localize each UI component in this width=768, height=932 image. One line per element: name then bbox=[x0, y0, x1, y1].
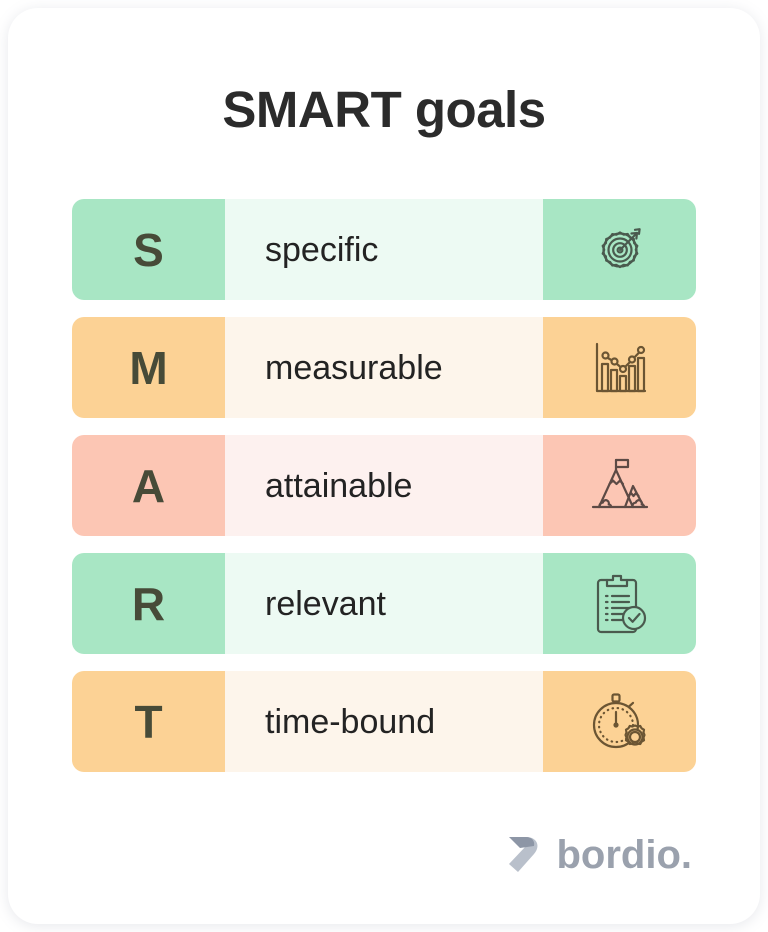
target-gear-arrow-icon bbox=[587, 217, 653, 283]
icon-cell-specific bbox=[543, 199, 696, 300]
label-attainable: attainable bbox=[265, 469, 412, 503]
smart-row-r: R relevant bbox=[72, 553, 696, 654]
label-cell-relevant: relevant bbox=[225, 553, 543, 654]
label-relevant: relevant bbox=[265, 587, 386, 621]
icon-cell-measurable bbox=[543, 317, 696, 418]
icon-cell-attainable bbox=[543, 435, 696, 536]
bordio-chevron-logo-icon bbox=[506, 834, 542, 876]
letter-cell-s: S bbox=[72, 199, 225, 300]
smart-row-s: S specific bbox=[72, 199, 696, 300]
page-title: SMART goals bbox=[8, 80, 760, 139]
label-cell-attainable: attainable bbox=[225, 435, 543, 536]
smart-row-t: T time-bound bbox=[72, 671, 696, 772]
label-time-bound: time-bound bbox=[265, 705, 435, 739]
smart-rows-list: S specific bbox=[72, 199, 696, 789]
label-specific: specific bbox=[265, 233, 378, 267]
letter-r: R bbox=[132, 581, 165, 627]
letter-cell-r: R bbox=[72, 553, 225, 654]
letter-t: T bbox=[134, 699, 162, 745]
label-cell-time-bound: time-bound bbox=[225, 671, 543, 772]
label-measurable: measurable bbox=[265, 351, 443, 385]
letter-m: M bbox=[129, 345, 167, 391]
stopwatch-gear-icon bbox=[587, 689, 653, 755]
letter-cell-a: A bbox=[72, 435, 225, 536]
smart-row-m: M measurable bbox=[72, 317, 696, 418]
bar-chart-line-icon bbox=[588, 336, 652, 400]
infographic-canvas: SMART goals S specific bbox=[0, 0, 768, 932]
icon-cell-time-bound bbox=[543, 671, 696, 772]
bordio-logo-text: bordio. bbox=[556, 835, 692, 875]
label-cell-measurable: measurable bbox=[225, 317, 543, 418]
icon-cell-relevant bbox=[543, 553, 696, 654]
bordio-logo: bordio. bbox=[506, 834, 692, 876]
mountain-flag-icon bbox=[587, 454, 653, 518]
smart-goals-card: SMART goals S specific bbox=[8, 8, 760, 924]
smart-row-a: A attainable bbox=[72, 435, 696, 536]
letter-s: S bbox=[133, 227, 164, 273]
clipboard-check-icon bbox=[589, 571, 651, 637]
label-cell-specific: specific bbox=[225, 199, 543, 300]
letter-cell-t: T bbox=[72, 671, 225, 772]
letter-cell-m: M bbox=[72, 317, 225, 418]
letter-a: A bbox=[132, 463, 165, 509]
